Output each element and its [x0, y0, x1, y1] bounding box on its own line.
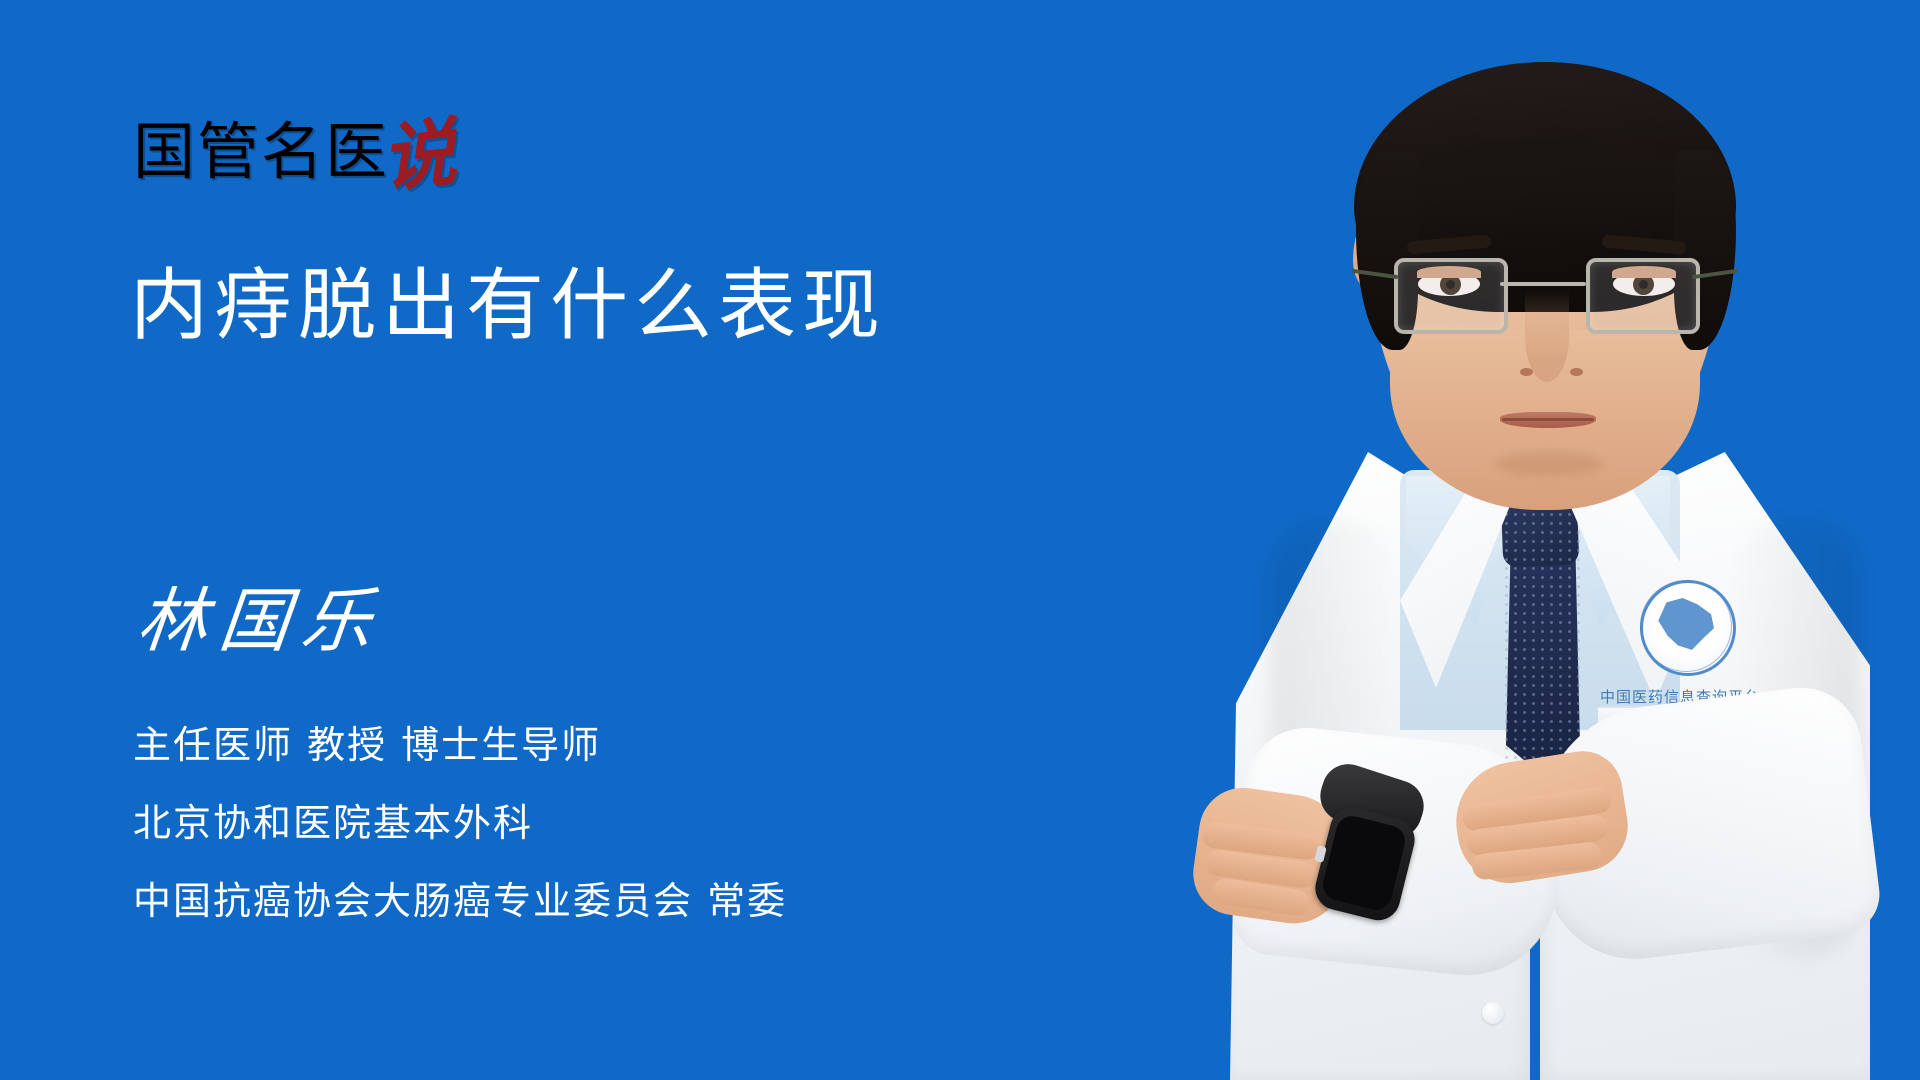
doctor-name: 林国乐 [133, 578, 388, 664]
nostril-left [1520, 368, 1533, 376]
nose [1525, 290, 1569, 382]
brand-logo: 国管名医 说 [133, 103, 459, 183]
video-cover-slide: 国管名医 说 内痔脱出有什么表现 林国乐 主任医师 教授 博士生导师 北京协和医… [0, 0, 1920, 1080]
necktie-pattern [1502, 492, 1584, 780]
glasses-lens-right [1586, 258, 1700, 334]
doctor-portrait-photo: 中国医药信息查询平台 [1070, 0, 1920, 1080]
lab-coat-button-lower [1482, 1002, 1504, 1024]
glasses-bridge [1500, 282, 1586, 286]
page-title: 内痔脱出有什么表现 [130, 258, 886, 354]
brand-logo-main-text: 国管名医 [133, 121, 389, 183]
credential-line-1: 主任医师 教授 博士生导师 [133, 722, 787, 768]
mouth-line [1502, 418, 1594, 421]
doctor-credentials: 主任医师 教授 博士生导师 北京协和医院基本外科 中国抗癌协会大肠癌专业委员会 … [133, 722, 787, 924]
nostril-right [1570, 368, 1583, 376]
chin-shadow [1494, 452, 1604, 476]
credential-line-3: 中国抗癌协会大肠癌专业委员会 常委 [133, 878, 787, 924]
glasses-lens-left [1394, 258, 1508, 334]
credential-line-2: 北京协和医院基本外科 [133, 800, 787, 846]
brand-logo-accent-text: 说 [379, 122, 459, 191]
